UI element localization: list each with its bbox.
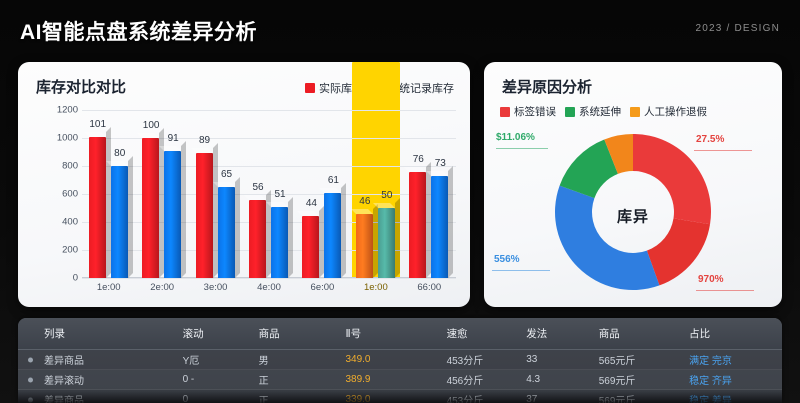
table-cell-ratio[interactable]: 稳定 差异 [679,392,782,403]
bar-系统记录库存-3e:00[interactable] [218,187,235,278]
table-cell-goods: 正 [249,392,336,403]
table-cell-method: 37 [516,394,589,403]
y-axis-tick: 1000 [32,133,78,144]
donut-slice-系统延伸[interactable] [555,186,659,290]
x-axis-label: 1e:00 [97,282,121,293]
bar-value-label: 76 [413,154,424,165]
table-cell-scroll: Y厄 [173,352,249,367]
bar-value-label: 100 [143,120,160,131]
donut-callout-label: $11.06% [496,132,535,143]
y-axis-tick: 200 [32,245,78,256]
table-cell-goods2: 565元斤 [589,352,679,367]
donut-callout-leader-line [696,290,754,291]
bar-chart: 120010008006004002000 101801009189655651… [18,106,470,307]
bar-chart-panel: 库存对比对比 实际库存 系统记录库存 120010008006004002000… [18,62,470,307]
table-cell-method: 4.3 [516,374,589,385]
legend-swatch-green [565,107,575,117]
gridline [82,138,456,139]
donut-callout-label: 970% [698,274,724,285]
bar-value-label: 73 [435,158,446,169]
header-meta: 2023 / DESIGN [695,23,780,34]
bar-chart-title: 库存对比对比 [36,76,126,97]
page-title: AI智能点盘系统差异分析 [20,16,257,46]
bar-value-label: 50 [381,190,392,201]
bar-value-label: 91 [168,133,179,144]
donut-callout-leader-line [492,270,550,271]
table-row[interactable]: 差异商品Y厄男349.0453分斤33565元斤满定 完京 [18,350,782,370]
donut-callout-leader-line [694,150,752,151]
bar-chart-x-axis: 1e:002e:003e:004e:006e:001e:0066:00 [82,282,456,300]
table-cell-name: 差异滚动 [18,372,173,387]
table-cell-goods2: 569元斤 [589,372,679,387]
bar-系统记录库存-1e:00[interactable] [111,166,128,278]
table-row[interactable]: 差异滚动0 -正389.9456分斤4.3569元斤稳定 齐异 [18,370,782,390]
gridline [82,110,456,111]
bar-value-label: 61 [328,175,339,186]
bar-value-label: 51 [274,189,285,200]
legend-label-system-delay: 系统延伸 [579,104,621,119]
row-bullet-icon [28,397,33,402]
legend-item-manual-op[interactable]: 人工操作退假 [630,104,707,119]
y-axis-tick: 1200 [32,105,78,116]
y-axis-tick: 600 [32,189,78,200]
legend-swatch-red [500,107,510,117]
donut-chart-title: 差异原因分析 [502,76,592,97]
table-cell-speed: 453分斤 [437,392,517,403]
gridline [82,278,456,279]
table-cell-goods2: 569元斤 [589,392,679,403]
table-column-header[interactable]: 速愈 [437,326,517,341]
table-cell-ratio[interactable]: 满定 完京 [679,352,782,367]
table-column-header[interactable]: 列录 [18,326,173,341]
table-cell-number: 339.0 [335,394,436,403]
donut-chart-panel: 差异原因分析 标签错误 系统延伸 人工操作退假 库异 $11.06%27.5%5… [484,62,782,307]
table-column-header[interactable]: 商品 [249,326,336,341]
bar-系统记录库存-6e:00[interactable] [324,193,341,278]
row-bullet-icon [28,357,33,362]
table-cell-name: 差异商品 [18,352,173,367]
bar-value-label: 80 [114,148,125,159]
bar-value-label: 44 [306,198,317,209]
page-header: AI智能点盘系统差异分析 2023 / DESIGN [0,0,800,56]
data-table: 列录滚动商品Ⅱ号速愈发法商品占比 差异商品Y厄男349.0453分斤33565元… [18,318,782,403]
x-axis-label: 3e:00 [204,282,228,293]
bar-系统记录库存-1e:00[interactable] [378,208,395,278]
donut-callout-leader-line [496,148,548,149]
slide-root: AI智能点盘系统差异分析 2023 / DESIGN 库存对比对比 实际库存 系… [0,0,800,403]
table-cell-goods: 男 [249,352,336,367]
table-row[interactable]: 差异商品0正339.0453分斤37569元斤稳定 差异 [18,390,782,403]
gridline [82,166,456,167]
legend-swatch-red [305,83,315,93]
donut-callout-label: 556% [494,254,520,265]
table-cell-number: 389.9 [335,374,436,385]
bar-实际库存-6e:00[interactable] [302,216,319,278]
x-axis-label: 6e:00 [311,282,335,293]
donut-callout-label: 27.5% [696,134,724,145]
bar-chart-y-axis: 120010008006004002000 [32,110,78,278]
bar-实际库存-2e:00[interactable] [142,138,159,278]
bar-系统记录库存-4e:00[interactable] [271,207,288,278]
row-bullet-icon [28,377,33,382]
bar-value-label: 46 [359,196,370,207]
legend-swatch-orange [630,107,640,117]
table-column-header[interactable]: 发法 [516,326,589,341]
bar-实际库存-1e:00[interactable] [356,214,373,278]
bar-系统记录库存-2e:00[interactable] [164,151,181,278]
bar-实际库存-3e:00[interactable] [196,153,213,278]
legend-item-tag-error[interactable]: 标签错误 [500,104,556,119]
legend-label-manual-op: 人工操作退假 [644,104,707,119]
table-column-header[interactable]: 滚动 [173,326,249,341]
y-axis-tick: 800 [32,161,78,172]
bar-value-label: 65 [221,169,232,180]
bar-实际库存-4e:00[interactable] [249,200,266,278]
bar-系统记录库存-66:00[interactable] [431,176,448,278]
bar-chart-plot-area: 101801009189655651446146507673 [82,110,456,278]
x-axis-label: 4e:00 [257,282,281,293]
table-cell-speed: 456分斤 [437,372,517,387]
donut-chart-legend: 标签错误 系统延伸 人工操作退假 [500,104,707,119]
table-column-header[interactable]: 占比 [679,326,782,341]
table-column-header[interactable]: 商品 [589,326,679,341]
table-cell-speed: 453分斤 [437,352,517,367]
y-axis-tick: 0 [32,273,78,284]
table-cell-ratio[interactable]: 稳定 齐异 [679,372,782,387]
y-axis-tick: 400 [32,217,78,228]
x-axis-label: 2e:00 [150,282,174,293]
table-column-header[interactable]: Ⅱ号 [335,326,436,341]
table-cell-scroll: 0 - [173,374,249,385]
bar-value-label: 101 [89,119,106,130]
donut-center-label: 库异 [617,205,649,226]
table-cell-name: 差异商品 [18,392,173,403]
table-header-row: 列录滚动商品Ⅱ号速愈发法商品占比 [18,318,782,350]
legend-label-tag-error: 标签错误 [514,104,556,119]
bar-value-label: 89 [199,135,210,146]
table-cell-scroll: 0 [173,394,249,403]
donut-chart: 库异 $11.06%27.5%556%970% [484,124,782,307]
table-cell-method: 33 [516,354,589,365]
legend-item-system-delay[interactable]: 系统延伸 [565,104,621,119]
bar-实际库存-1e:00[interactable] [89,137,106,278]
x-axis-label: 66:00 [417,282,441,293]
table-cell-number: 349.0 [335,354,436,365]
bar-实际库存-66:00[interactable] [409,172,426,278]
bar-value-label: 56 [252,182,263,193]
table-cell-goods: 正 [249,372,336,387]
x-axis-label: 1e:00 [364,282,388,293]
